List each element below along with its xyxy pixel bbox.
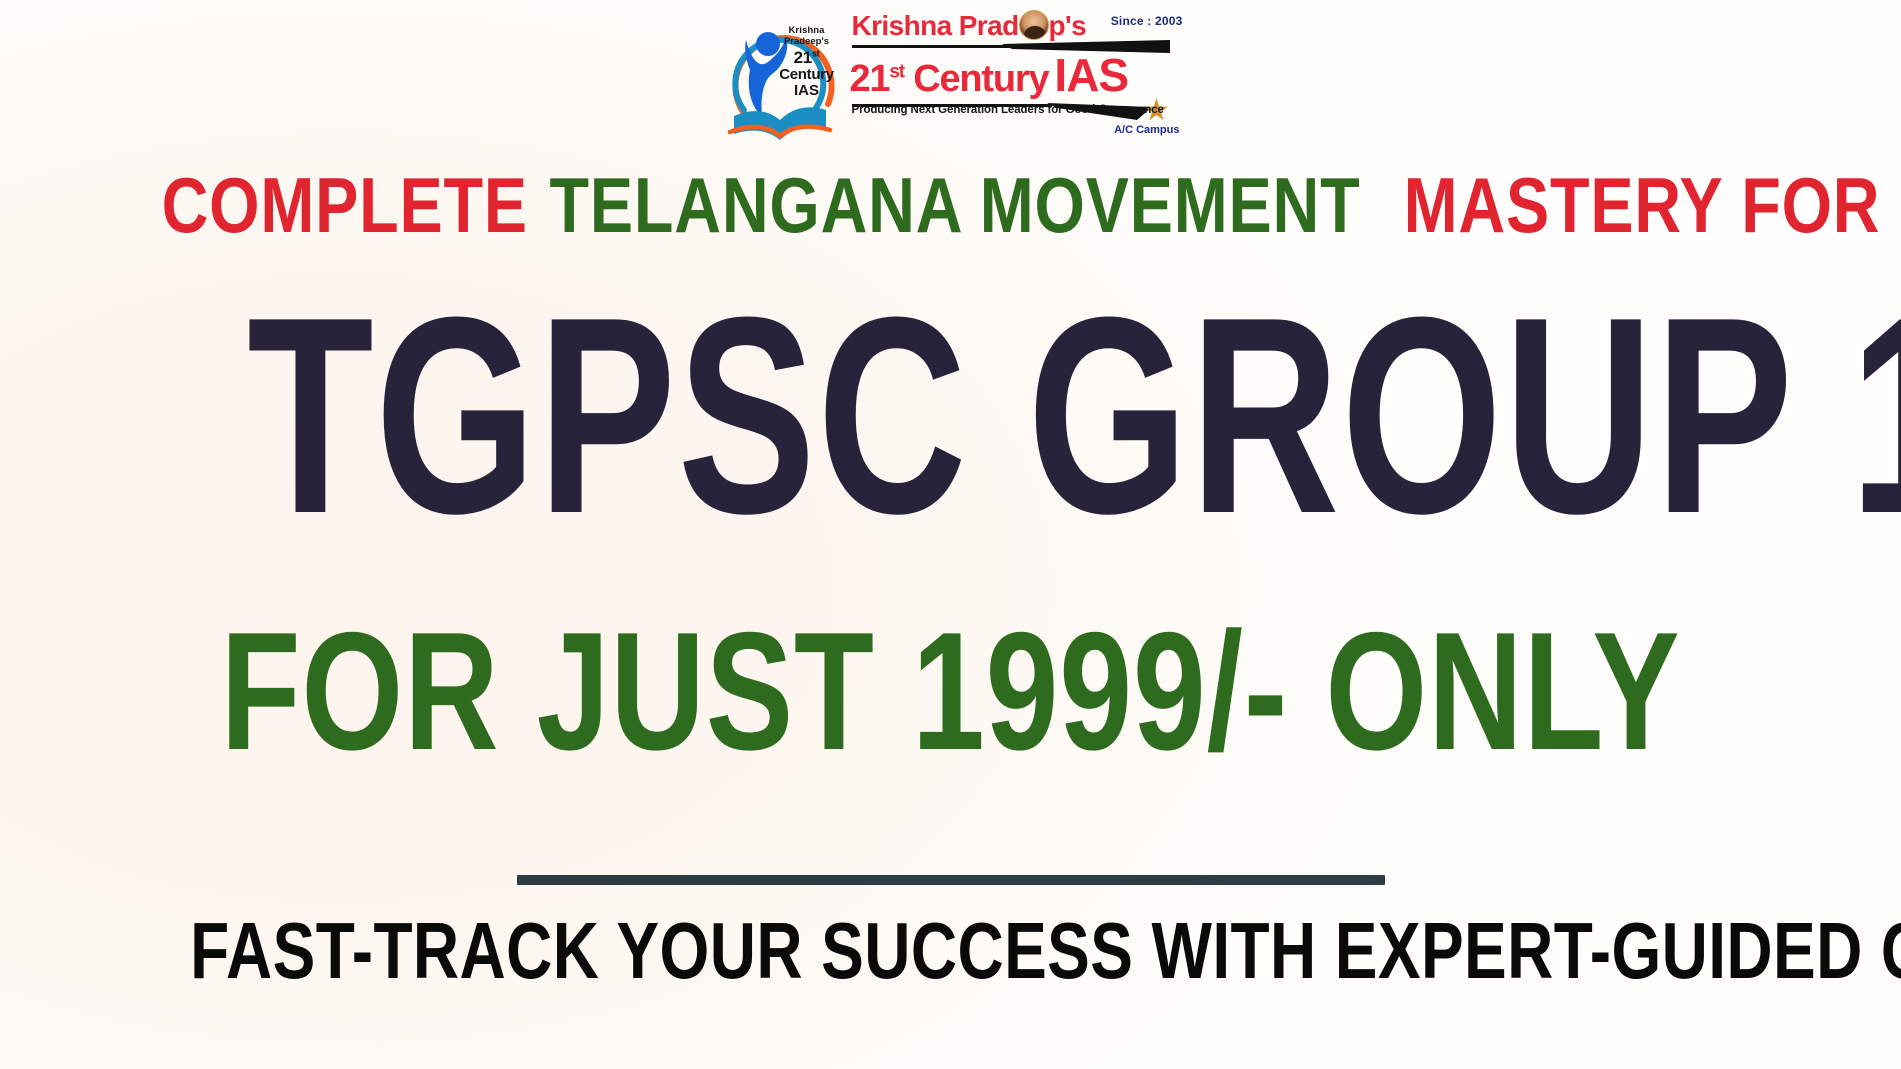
brand-logo: Krishna Pradeep's 21st Century IAS Krish… <box>716 4 1186 146</box>
logo-wordmark: Krishna Pradeep's Since : 2003 21st Cent… <box>846 4 1186 144</box>
logo-tagline-text: Producing Next Generation Leaders for Go… <box>852 104 1164 116</box>
founder-portrait-icon <box>1019 10 1049 40</box>
brand-name-text: 21st CenturyIAS <box>850 52 1129 98</box>
headline-price-offer: FOR JUST 1999/- ONLY <box>209 596 1692 786</box>
promotional-banner: Krishna Pradeep's 21st Century IAS Krish… <box>0 0 1901 1069</box>
logo-emblem-icon: Krishna Pradeep's 21st Century IAS <box>716 4 846 144</box>
divider-bar <box>517 875 1385 885</box>
emblem-line-krishna: Krishna <box>770 26 844 36</box>
emblem-century: Century <box>770 67 844 82</box>
headline-primary: COMPLETETELANGANA MOVEMENTMASTERY FOR <box>162 160 1740 250</box>
headline-word-mastery-for: MASTERY FOR <box>1404 161 1881 249</box>
since-label: Since : 2003 <box>1111 14 1183 28</box>
emblem-text-block: Krishna Pradeep's 21st Century IAS <box>770 26 844 98</box>
headline-exam-name: TGPSC GROUP 1&2 <box>247 266 1654 566</box>
emblem-ias: IAS <box>770 83 844 98</box>
headline-word-telangana-movement: TELANGANA MOVEMENT <box>549 161 1360 249</box>
emblem-21st: 21st <box>770 49 844 66</box>
footer-tagline: FAST-TRACK YOUR SUCCESS WITH EXPERT-GUID… <box>190 903 1711 999</box>
emblem-line-pradeep: Pradeep's <box>770 37 844 47</box>
headline-word-complete: COMPLETE <box>162 161 528 249</box>
campus-label: A/C Campus <box>1114 124 1179 136</box>
brand-owner-text: Krishna Pradeep's <box>852 10 1087 42</box>
